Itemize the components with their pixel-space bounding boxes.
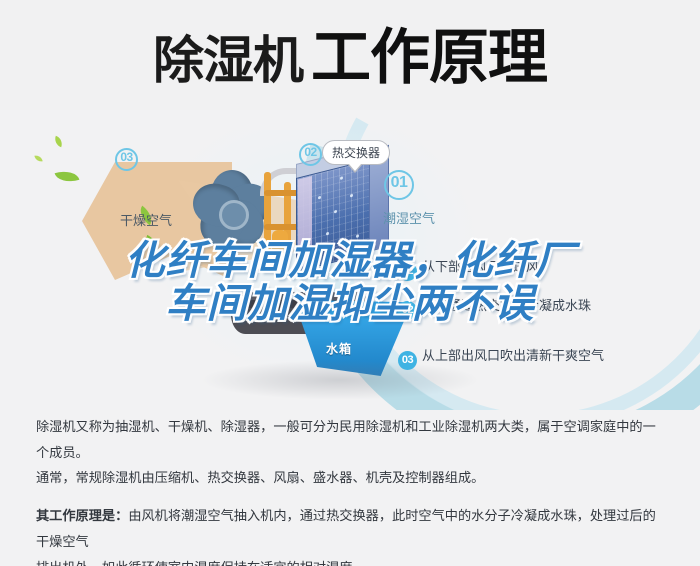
article-para1-sentence-1: 除湿机又称为抽湿机、干燥机、除湿器，一般可分为民用除湿机和工业除湿机两大类，属于… <box>36 419 656 460</box>
illustration-stage: 水箱 03 干燥空气 02 热交换器 01 潮湿空气 02从下部进风口中进风 0… <box>0 110 700 410</box>
step-line-2: 02空气通过热交换器冷凝成水珠 <box>398 295 591 320</box>
fan-hub <box>219 200 249 230</box>
infographic-page: 除湿机工作原理 <box>0 0 700 566</box>
compressor-cylinder <box>272 230 288 260</box>
coil-pipe <box>264 172 271 258</box>
step-1-text: 从下部进风口中进风 <box>422 259 539 274</box>
leaf-icon <box>34 154 42 162</box>
badge-step-2: 02 <box>398 301 417 320</box>
step-3-text: 从上部出风口吹出清新干爽空气 <box>422 348 604 363</box>
article-para2-sentence-2: 排出机外，如此循环使室内湿度保持在适宜的相对湿度。 <box>36 560 366 566</box>
leaf-icon <box>53 136 65 148</box>
callout-heat-exchanger: 热交换器 <box>322 140 390 165</box>
title-part-2: 工作原理 <box>311 24 547 91</box>
article-paragraph-2: 其工作原理是：由风机将潮湿空气抽入机内，通过热交换器，此时空气中的水分子冷凝成水… <box>36 503 668 566</box>
title-part-1: 除湿机 <box>153 32 303 89</box>
page-title: 除湿机工作原理 <box>0 28 700 88</box>
article-body: 除湿机又称为抽湿机、干燥机、除湿器，一般可分为民用除湿机和工业除湿机两大类，属于… <box>36 414 668 566</box>
heat-exchanger-fin <box>298 176 312 267</box>
step-line-3: 03从上部出风口吹出清新干爽空气 <box>398 345 604 370</box>
leaf-icon <box>55 167 80 186</box>
water-tank-label: 水箱 <box>326 340 352 357</box>
step-line-1: 02从下部进风口中进风 <box>398 256 539 281</box>
badge-step-3: 03 <box>398 351 417 370</box>
article-para2-lead: 其工作原理是： <box>36 508 128 523</box>
badge-humid-air: 01 <box>384 170 414 200</box>
label-dry-air: 干燥空气 <box>120 210 172 229</box>
article-paragraph-1: 除湿机又称为抽湿机、干燥机、除湿器，一般可分为民用除湿机和工业除湿机两大类，属于… <box>36 414 668 491</box>
badge-dry-air: 03 <box>115 148 138 171</box>
badge-heat-exchanger: 02 <box>299 143 322 166</box>
step-2-text: 空气通过热交换器冷凝成水珠 <box>422 298 591 313</box>
label-humid-air: 潮湿空气 <box>383 208 435 227</box>
article-para2-sentence-1: 由风机将潮湿空气抽入机内，通过热交换器，此时空气中的水分子冷凝成水珠，处理过后的… <box>36 508 656 549</box>
article-para1-sentence-2: 通常，常规除湿机由压缩机、热交换器、风扇、盛水器、机壳及控制器组成。 <box>36 470 484 485</box>
title-band: 除湿机工作原理 <box>0 0 700 118</box>
badge-step-1: 02 <box>398 262 417 281</box>
